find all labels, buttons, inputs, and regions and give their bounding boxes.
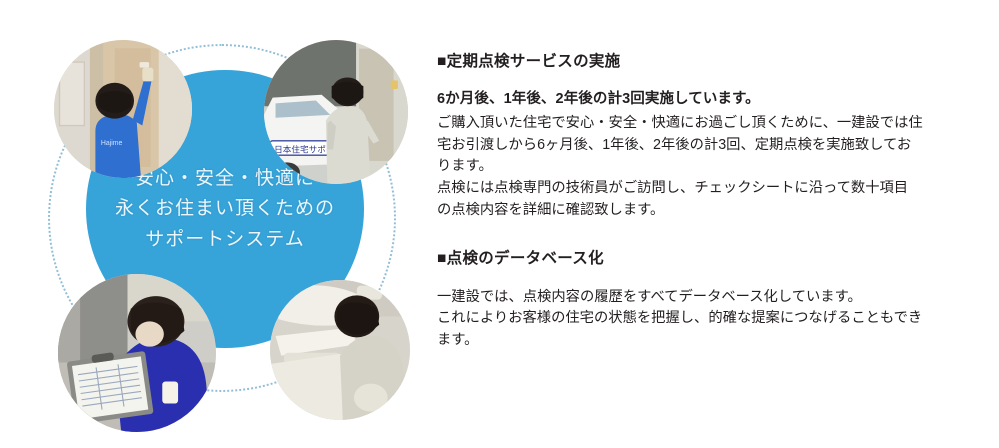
caption-line-3: サポートシステム	[145, 227, 304, 253]
promo-panel: 安心・安全・快適に 永くお住まい頂くための サポートシステム Hajime	[0, 0, 999, 448]
support-system-graphic: 安心・安全・快適に 永くお住まい頂くための サポートシステム Hajime	[20, 18, 420, 430]
s1p1-line-2: 宅お引渡しから6ヶ月後、1年後、2年後の計3回、定期点検を実施致してお	[437, 135, 989, 157]
photo-water-fixture-inspection	[270, 280, 410, 420]
section1-heading: ■定期点検サービスの実施	[437, 52, 989, 72]
s1p1-line-3: ります。	[437, 156, 989, 178]
svg-text:Hajime: Hajime	[101, 140, 123, 147]
caption-line-2: 永くお住まい頂くための	[115, 196, 335, 222]
content-column: ■定期点検サービスの実施 6か月後、1年後、2年後の計3回実施しています。 ご購…	[437, 52, 989, 352]
section1-paragraph2: 点検には点検専門の技術員がご訪問し、チェックシートに沿って数十項目 の点検内容を…	[437, 178, 989, 221]
s1p1-line-1: ご購入頂いた住宅で安心・安全・快適にお過ごし頂くために、一建設では住	[437, 113, 989, 135]
s2p-line-3: ます。	[437, 330, 989, 352]
section1-paragraph1: ご購入頂いた住宅で安心・安全・快適にお過ごし頂くために、一建設では住 宅お引渡し…	[437, 113, 989, 178]
photo-checksheet-inspection	[58, 274, 216, 432]
caption-line-1: 安心・安全・快適に	[135, 166, 315, 192]
s1p2-line-2: の点検内容を詳細に確認致します。	[437, 200, 989, 222]
s1p2-line-1: 点検には点検専門の技術員がご訪問し、チェックシートに沿って数十項目	[437, 178, 989, 200]
section2-heading: ■点検のデータベース化	[437, 249, 989, 269]
section2-paragraph: 一建設では、点検内容の履歴をすべてデータベース化しています。 これによりお客様の…	[437, 287, 989, 352]
s2p-line-1: 一建設では、点検内容の履歴をすべてデータベース化しています。	[437, 287, 989, 309]
photo-van-visit: 日本住宅サポート	[264, 40, 408, 184]
photo-door-inspection: Hajime	[54, 40, 192, 178]
section1-lead: 6か月後、1年後、2年後の計3回実施しています。	[437, 89, 989, 111]
section-spacer	[437, 221, 989, 249]
s2p-line-2: これによりお客様の住宅の状態を把握し、的確な提案につなげることもでき	[437, 308, 989, 330]
